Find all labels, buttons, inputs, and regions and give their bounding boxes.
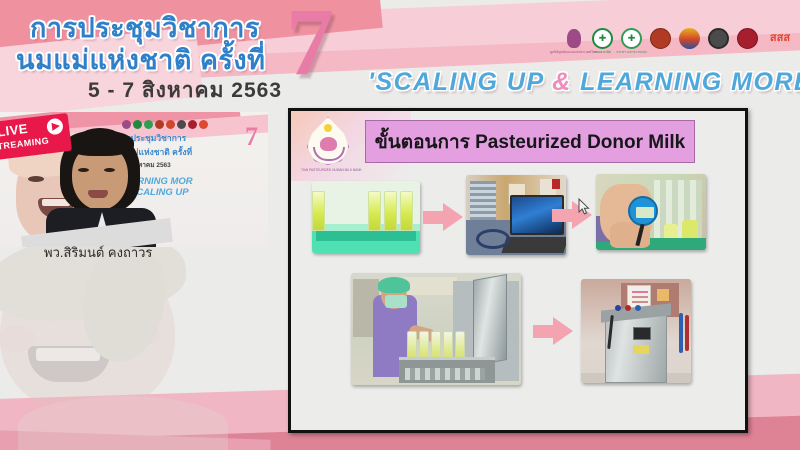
play-icon[interactable] [46, 118, 64, 136]
mouse-pointer [578, 198, 590, 216]
thaihealth-sss-logo [765, 28, 795, 58]
tagline-prefix: 'SCALING UP [368, 68, 552, 96]
step-image-nurse-pasteurizer-loading [351, 273, 521, 385]
step-image-milk-bottle-rack [312, 181, 420, 253]
presentation-slide: THAI PASTEURIZED HUMAN MILK BANK ขั้นตอน… [288, 108, 748, 433]
slide-title-box: ขั้นตอนการ Pasteurized Donor Milk [365, 120, 695, 163]
human-milk-bank-logo: THAI PASTEURIZED HUMAN MILK BANK [301, 115, 357, 173]
medical-council-logo [736, 28, 759, 58]
nursing-council-logo [707, 28, 730, 58]
royal-college-logo [649, 28, 672, 58]
screen: การประชุมวิชาการ นมแม่แห่งชาติ ครั้งที่ … [0, 0, 800, 450]
step-image-laptop-record [466, 175, 566, 255]
ministry-public-health-logo: ✚กรมอนามัย [591, 28, 614, 58]
tagline-ampersand: & [552, 68, 572, 96]
live-label: LIVE [0, 121, 29, 140]
royal-patronage-logo: มูลนิธิศูนย์นมแม่แห่งประเทศไทย [562, 28, 585, 58]
conference-date: 5 - 7 สิงหาคม 2563 [88, 74, 282, 107]
speaker-name-caption: พว.สิริมนต์ คงถาวร [44, 242, 152, 263]
conference-edition-number: 7 [286, 0, 334, 90]
arrow-step4-to-step5 [533, 317, 573, 345]
organization-logo-strip: มูลนิธิศูนย์นมแม่แห่งประเทศไทย ✚กรมอนามั… [562, 28, 795, 58]
live-video-thumbnail[interactable]: การประชุมวิชาการ นมแม่แห่งชาติ ครั้งที่ … [0, 112, 268, 247]
conference-tagline: 'SCALING UP & LEARNING MORE' [368, 68, 800, 97]
step-image-thermometer-check [596, 174, 706, 250]
poster-tagline-line2: SCALING UP [130, 187, 266, 198]
milk-bank-logo-caption: THAI PASTEURIZED HUMAN MILK BANK [301, 168, 357, 172]
poster-edition-number: 7 [245, 122, 258, 152]
step-image-pasteurizer-machine [581, 279, 691, 383]
royal-emblem-logo [678, 28, 701, 58]
slide-title: ขั้นตอนการ Pasteurized Donor Milk [375, 127, 685, 157]
arrow-step1-to-step2 [423, 203, 463, 231]
tagline-suffix: LEARNING MORE' [572, 68, 800, 96]
department-health-logo: ✚กระทรวงสาธารณสุข [620, 28, 643, 58]
